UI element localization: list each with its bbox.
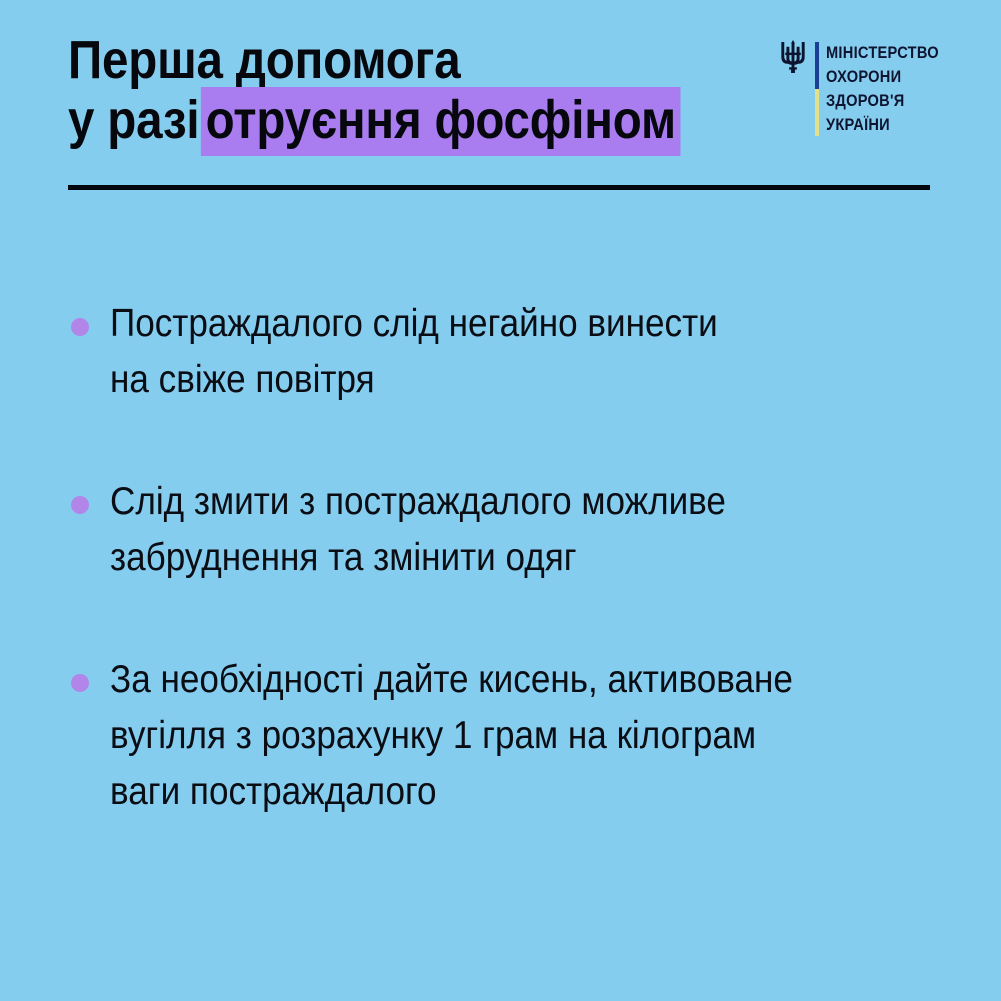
list-item-text: Слід змити з постраждалого можливе забру… <box>110 474 974 586</box>
ministry-line-4: УКРАЇНИ <box>826 113 939 137</box>
list-item: За необхідності дайте кисень, активоване… <box>0 652 1001 820</box>
poster-header: Перша допомога у разіотруєння фосфіном М… <box>0 0 1001 200</box>
bullet-dot-icon <box>71 496 89 514</box>
ukraine-trident-icon <box>778 40 808 74</box>
bullet-dot-icon <box>71 674 89 692</box>
page-title: Перша допомога у разіотруєння фосфіном <box>68 30 684 150</box>
header-divider <box>68 185 930 190</box>
bullet-dot-icon <box>71 318 89 336</box>
list-item-text: За необхідності дайте кисень, активоване… <box>110 652 974 820</box>
logo-flag-divider <box>815 42 819 136</box>
ministry-line-3: ЗДОРОВ'Я <box>826 89 939 113</box>
ministry-name: МІНІСТЕРСТВО ОХОРОНИ ЗДОРОВ'Я УКРАЇНИ <box>826 40 957 137</box>
ministry-line-2: ОХОРОНИ <box>826 65 939 89</box>
title-highlight: отруєння фосфіном <box>201 87 680 156</box>
title-line-1: Перша допомога <box>68 30 684 90</box>
title-line-2: у разіотруєння фосфіном <box>68 90 684 150</box>
ministry-line-1: МІНІСТЕРСТВО <box>826 41 939 65</box>
first-aid-steps-list: Постраждалого слід негайно винести на св… <box>0 296 1001 820</box>
list-item-text: Постраждалого слід негайно винести на св… <box>110 296 974 408</box>
title-line-2-prefix: у разі <box>68 90 199 150</box>
list-item: Слід змити з постраждалого можливе забру… <box>0 474 1001 586</box>
poster-canvas: Перша допомога у разіотруєння фосфіном М… <box>0 0 1001 1001</box>
ministry-logo: МІНІСТЕРСТВО ОХОРОНИ ЗДОРОВ'Я УКРАЇНИ <box>778 40 957 137</box>
list-item: Постраждалого слід негайно винести на св… <box>0 296 1001 408</box>
